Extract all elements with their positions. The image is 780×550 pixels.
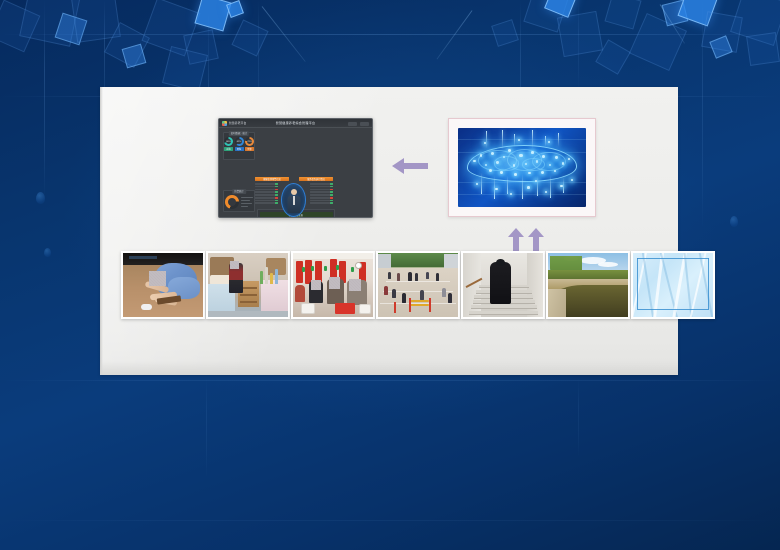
brain-node — [549, 164, 551, 166]
decor-square — [71, 0, 121, 43]
decor-square — [0, 0, 40, 52]
alarm-ratio-legend — [241, 197, 253, 209]
service-task-header[interactable]: 服务任务执行情况 — [299, 177, 333, 181]
resident-avatar-highlight[interactable] — [281, 183, 306, 217]
brain-node — [555, 156, 557, 158]
brain-node — [525, 163, 527, 165]
brain-node — [500, 171, 502, 173]
photo-room-care[interactable] — [208, 253, 288, 317]
content-panel: 智慧养老平台 智慧健康养老综合管理平台 实时数据 · 统计 86% 在院 — [100, 87, 678, 375]
dashboard-alarm-ratio-card[interactable]: 告警统计 — [223, 190, 255, 212]
decor-streak — [262, 6, 306, 62]
brain-node — [562, 162, 565, 165]
photo-outdoor-plaza[interactable] — [378, 253, 458, 317]
brain-node — [484, 142, 486, 144]
brain-node — [536, 160, 538, 162]
panel-bottom-edge — [100, 361, 678, 375]
decor-vline — [578, 378, 579, 458]
ai-brain-image — [458, 128, 586, 207]
decor-square — [104, 22, 150, 68]
decor-square-bright — [677, 0, 718, 27]
decor-square — [629, 13, 687, 71]
gauge-ring: 78% — [245, 137, 254, 146]
gauge-ring: 62% — [235, 137, 244, 146]
decor-hairline — [0, 34, 780, 35]
gauge-button[interactable]: 告警 — [245, 147, 254, 151]
brain-node — [531, 151, 534, 154]
decor-vline — [44, 0, 45, 200]
nav-item-monitor[interactable] — [360, 122, 369, 126]
decor-square — [557, 11, 603, 57]
decor-hairline — [0, 380, 780, 381]
health-alert-list[interactable] — [255, 183, 278, 205]
decor-streak — [436, 10, 472, 59]
decor-square — [19, 0, 81, 47]
decor-blob — [36, 192, 45, 204]
brain-node — [513, 164, 515, 166]
brain-node — [476, 183, 478, 185]
gauge-row: 86% 在院 62% 离院 78% 告警 — [224, 137, 254, 151]
decor-square — [142, 0, 201, 56]
decor-square — [604, 0, 641, 30]
avatar-tie — [293, 196, 295, 205]
brain-node — [514, 173, 517, 176]
slide-canvas: 智慧养老平台 智慧健康养老综合管理平台 实时数据 · 统计 86% 在院 — [0, 0, 780, 550]
gauge-in-residence[interactable]: 86% 在院 — [224, 137, 233, 151]
brain-node — [571, 179, 573, 181]
brain-node — [542, 155, 545, 158]
decor-square — [701, 11, 743, 53]
decor-square — [491, 19, 519, 47]
service-task-list[interactable] — [310, 183, 333, 205]
list-item[interactable] — [631, 251, 715, 319]
health-alert-header[interactable]: 健康监测预警信息 — [255, 177, 289, 181]
decor-square — [746, 32, 780, 66]
scenario-photo-strip — [121, 251, 715, 319]
dashboard-stats-card-title: 实时数据 · 统计 — [229, 131, 249, 136]
photo-park-waterfront[interactable] — [548, 253, 628, 317]
decor-square — [162, 46, 208, 92]
decor-square — [55, 13, 88, 46]
alarm-ratio-donut-chart — [225, 195, 239, 209]
decor-square — [122, 44, 147, 69]
panel-left-edge — [100, 87, 103, 375]
list-item[interactable] — [206, 251, 290, 319]
brain-node — [535, 180, 537, 182]
privacy-mosaic — [149, 271, 167, 286]
brain-node — [480, 154, 483, 157]
brain-node — [485, 164, 487, 166]
decor-square — [231, 19, 268, 56]
dashboard-nav[interactable] — [348, 122, 369, 126]
decor-square — [730, 0, 780, 46]
nav-item-home[interactable] — [348, 122, 357, 126]
gauge-alarms[interactable]: 78% 告警 — [245, 137, 254, 151]
photo-group-activity[interactable] — [293, 253, 373, 317]
dashboard-header-bar: 智慧养老平台 智慧健康养老综合管理平台 — [219, 119, 372, 128]
brain-node — [496, 161, 498, 163]
decor-square-bright — [544, 0, 578, 18]
platform-dashboard-screenshot[interactable]: 智慧养老平台 智慧健康养老综合管理平台 实时数据 · 统计 86% 在院 — [218, 118, 373, 218]
decor-square — [709, 35, 732, 58]
privacy-mosaic — [311, 280, 321, 290]
gauge-value: 78% — [245, 137, 254, 146]
gauge-out-of-residence[interactable]: 62% 离院 — [235, 137, 244, 151]
privacy-mosaic — [329, 277, 340, 289]
decor-square-bright — [194, 0, 231, 32]
decor-square — [662, 0, 689, 26]
brain-node — [519, 154, 522, 157]
list-item[interactable] — [546, 251, 630, 319]
brain-node — [548, 141, 550, 143]
decor-square — [595, 39, 631, 75]
gauge-button[interactable]: 离院 — [235, 147, 244, 151]
left-pointing-arrow-icon — [390, 155, 428, 177]
brain-node — [545, 191, 547, 193]
privacy-mosaic — [349, 279, 361, 291]
brain-node — [508, 149, 511, 152]
decor-streak — [660, 4, 685, 44]
gauge-value: 62% — [235, 137, 244, 146]
dashboard-center-lower-section: 健康监测预警信息 服务任务执行情况 张某某 — [255, 177, 333, 218]
privacy-mosaic — [230, 261, 240, 269]
decor-hairline — [0, 520, 780, 521]
brain-node — [495, 188, 497, 190]
gauge-button[interactable]: 在院 — [224, 147, 233, 151]
list-item[interactable] — [291, 251, 375, 319]
gauge-ring: 86% — [224, 137, 233, 146]
brain-node — [473, 160, 475, 162]
decor-square-bright — [226, 0, 244, 18]
list-item[interactable] — [121, 251, 205, 319]
decor-vline — [206, 378, 207, 478]
dashboard-stats-card[interactable]: 实时数据 · 统计 86% 在院 62% 离院 78% 告警 — [223, 132, 255, 160]
decor-blob — [730, 216, 738, 227]
brain-node — [560, 185, 562, 187]
decor-blob — [44, 248, 51, 257]
list-item[interactable] — [376, 251, 460, 319]
ai-brain-image-frame[interactable] — [448, 118, 596, 217]
decor-square — [183, 29, 219, 65]
dashboard-alarm-ratio-title: 告警统计 — [232, 189, 246, 194]
decor-square — [523, 0, 568, 33]
brain-node — [541, 171, 544, 174]
brain-node — [489, 169, 492, 172]
decor-vline — [702, 0, 703, 230]
photo-stairs-monitoring[interactable] — [463, 253, 543, 317]
decor-vline — [578, 0, 579, 90]
brain-node — [503, 156, 505, 158]
brain-node — [527, 186, 530, 189]
list-item[interactable] — [461, 251, 545, 319]
gauge-value: 86% — [224, 137, 233, 146]
photo-fall-detection[interactable] — [123, 253, 203, 317]
photo-water-light-abstract[interactable] — [633, 253, 713, 317]
dashboard-body: 实时数据 · 统计 86% 在院 62% 离院 78% 告警 — [219, 128, 372, 217]
